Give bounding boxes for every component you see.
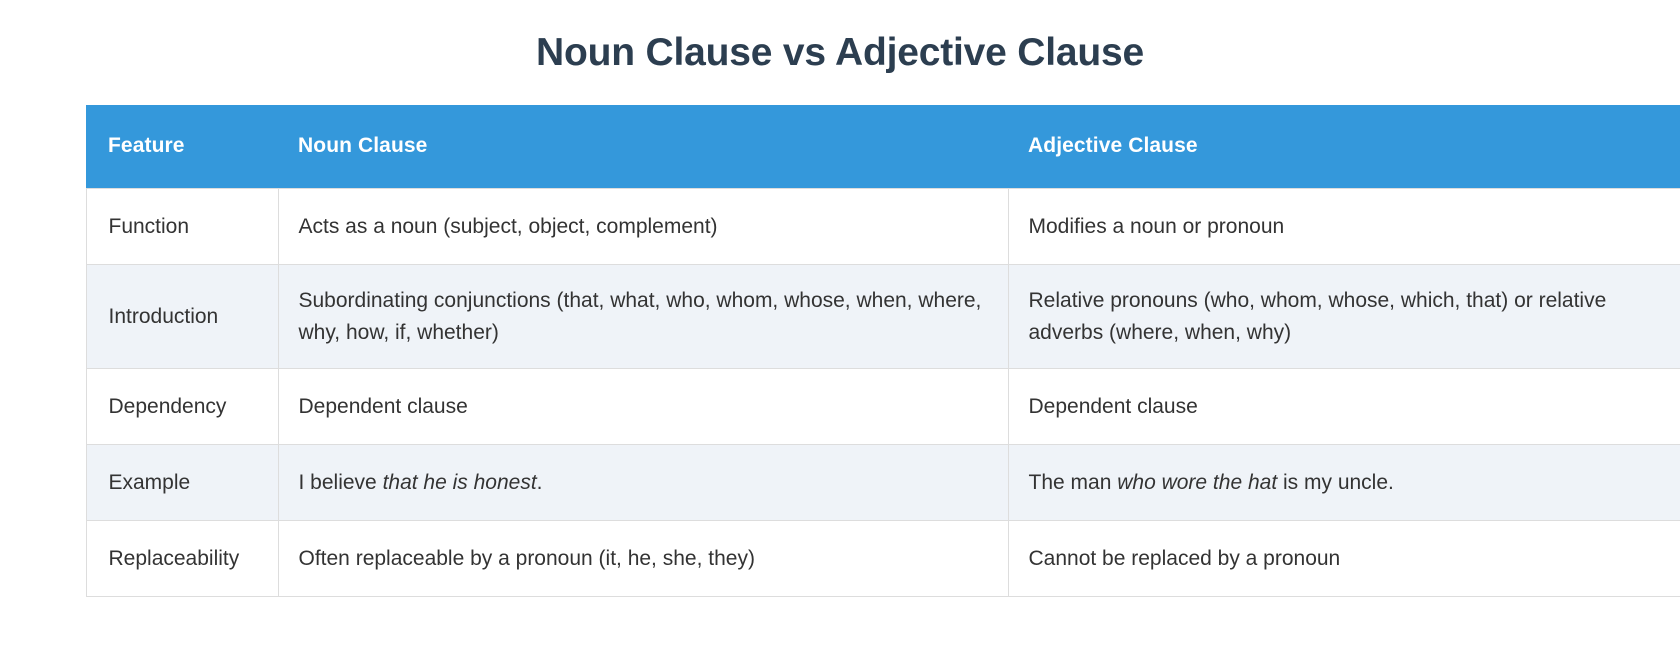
cell-text-pre: Modifies a noun or pronoun xyxy=(1029,215,1285,238)
cell-text-pre: The man xyxy=(1029,471,1118,494)
table-row: Function Acts as a noun (subject, object… xyxy=(86,189,1680,265)
cell-adjective-clause: Cannot be replaced by a pronoun xyxy=(1008,521,1680,597)
table-header: Feature Noun Clause Adjective Clause xyxy=(86,105,1680,189)
cell-text-pre: Often replaceable by a pronoun (it, he, … xyxy=(299,547,755,570)
cell-text-pre: Dependent clause xyxy=(1029,395,1198,418)
cell-noun-clause: I believe that he is honest. xyxy=(278,445,1008,521)
cell-text-pre: Relative pronouns (who, whom, whose, whi… xyxy=(1029,289,1607,344)
column-header-feature: Feature xyxy=(86,105,278,189)
cell-text-pre: Acts as a noun (subject, object, complem… xyxy=(299,215,718,238)
cell-text-emphasis: who wore the hat xyxy=(1117,471,1277,494)
cell-text-post: is my uncle. xyxy=(1277,471,1394,494)
cell-text-pre: Subordinating conjunctions (that, what, … xyxy=(299,289,982,344)
table-row: Replaceability Often replaceable by a pr… xyxy=(86,521,1680,597)
cell-feature: Example xyxy=(86,445,278,521)
table-row: Introduction Subordinating conjunctions … xyxy=(86,265,1680,369)
cell-text-post: . xyxy=(537,471,543,494)
cell-feature: Function xyxy=(86,189,278,265)
header-row: Feature Noun Clause Adjective Clause xyxy=(86,105,1680,189)
cell-noun-clause: Dependent clause xyxy=(278,369,1008,445)
cell-text-emphasis: that he is honest xyxy=(383,471,537,494)
cell-feature: Introduction xyxy=(86,265,278,369)
table-body: Function Acts as a noun (subject, object… xyxy=(86,189,1680,597)
cell-adjective-clause: Dependent clause xyxy=(1008,369,1680,445)
cell-noun-clause: Acts as a noun (subject, object, complem… xyxy=(278,189,1008,265)
cell-adjective-clause: The man who wore the hat is my uncle. xyxy=(1008,445,1680,521)
cell-text-pre: Cannot be replaced by a pronoun xyxy=(1029,547,1341,570)
comparison-table: Feature Noun Clause Adjective Clause Fun… xyxy=(86,105,1680,598)
column-header-adjective-clause: Adjective Clause xyxy=(1008,105,1680,189)
cell-adjective-clause: Relative pronouns (who, whom, whose, whi… xyxy=(1008,265,1680,369)
comparison-page: Noun Clause vs Adjective Clause Feature … xyxy=(0,0,1680,662)
table-row: Dependency Dependent clause Dependent cl… xyxy=(86,369,1680,445)
table-row: Example I believe that he is honest. The… xyxy=(86,445,1680,521)
cell-adjective-clause: Modifies a noun or pronoun xyxy=(1008,189,1680,265)
cell-noun-clause: Often replaceable by a pronoun (it, he, … xyxy=(278,521,1008,597)
cell-noun-clause: Subordinating conjunctions (that, what, … xyxy=(278,265,1008,369)
cell-text-pre: Dependent clause xyxy=(299,395,468,418)
page-title: Noun Clause vs Adjective Clause xyxy=(0,0,1680,79)
table-container: Feature Noun Clause Adjective Clause Fun… xyxy=(43,105,1638,598)
column-header-noun-clause: Noun Clause xyxy=(278,105,1008,189)
cell-text-pre: I believe xyxy=(299,471,383,494)
cell-feature: Dependency xyxy=(86,369,278,445)
cell-feature: Replaceability xyxy=(86,521,278,597)
